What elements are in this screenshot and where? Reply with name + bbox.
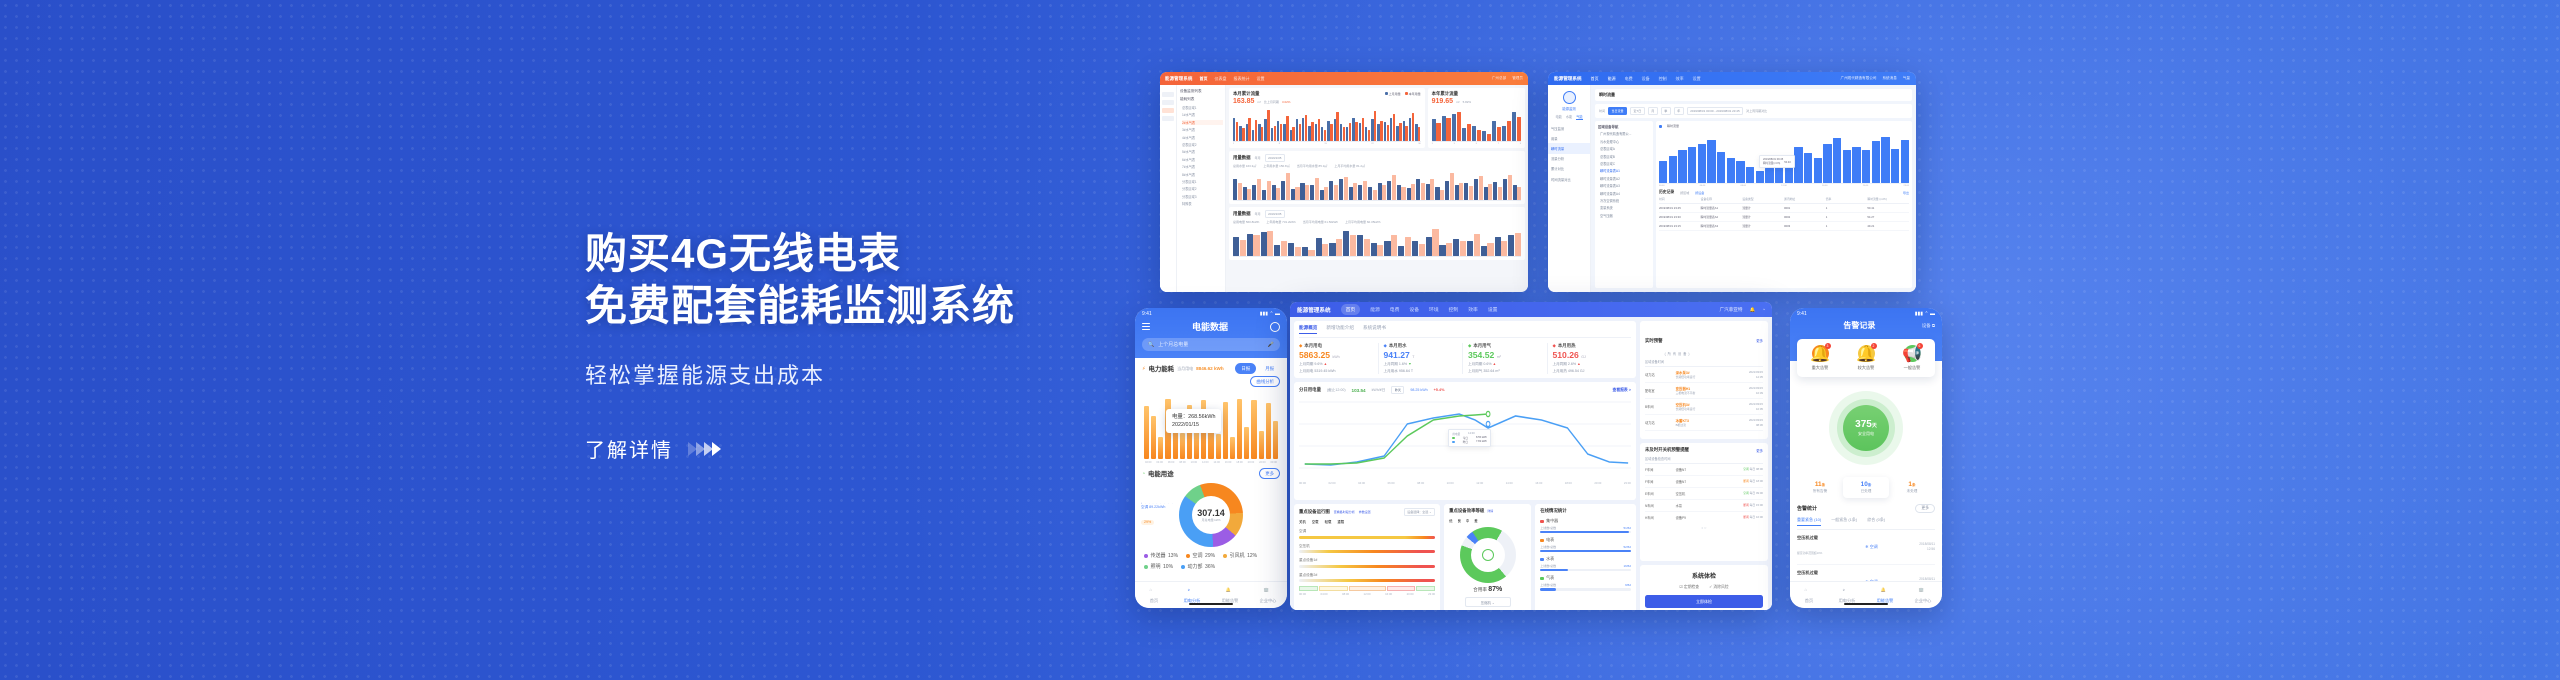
bar xyxy=(1457,112,1461,141)
bar-group xyxy=(1426,226,1439,256)
alarm-row[interactable]: 动力站 深水泵3#长期低功率运行 2021/03/1512:35 xyxy=(1645,367,1763,383)
gas-volume[interactable]: 气量 xyxy=(1903,76,1910,81)
bar xyxy=(1756,171,1764,183)
list-header: 告警统计 更多 xyxy=(1797,504,1935,513)
bar xyxy=(1343,231,1349,256)
gauge-legend: 优 良 中 差 xyxy=(1449,518,1526,523)
mic-icon[interactable]: 🎤 xyxy=(1268,342,1274,348)
bar xyxy=(1251,400,1256,459)
donut-chart: 307.14 月总电量 kWh xyxy=(1179,483,1243,547)
bar xyxy=(1230,437,1235,459)
bar xyxy=(1446,118,1450,141)
tick: 04:00 xyxy=(1156,461,1163,464)
tab-label: 企业中心 xyxy=(1260,598,1277,604)
bar xyxy=(1350,235,1356,256)
filter-7day[interactable]: 近7日 xyxy=(1630,107,1645,115)
tree-item[interactable]: 污水处理中心 xyxy=(1600,139,1650,144)
bar xyxy=(1286,116,1288,141)
status-icons: ▮▮▮ ⌃ ▬ xyxy=(1915,311,1935,317)
tab-enterprise[interactable]: 🏢企业中心 xyxy=(1904,582,1942,608)
tick: 12:00 xyxy=(1364,592,1371,596)
bar-group xyxy=(1384,107,1389,141)
bar xyxy=(1292,127,1294,141)
tab-electric[interactable]: 电能 xyxy=(1555,114,1561,120)
bar xyxy=(1497,127,1501,141)
nav-item-environment[interactable]: 环境 xyxy=(1429,306,1439,313)
bar-group xyxy=(1482,107,1491,141)
system-message[interactable]: 系统消息 xyxy=(1882,76,1896,81)
nav-item-reports[interactable]: 报表统计 xyxy=(1234,76,1250,82)
kpi-compare: 上月同期 1.6% xyxy=(1384,362,1408,366)
overview-tabs[interactable]: 能源概览 新增功能介绍 系统说明书 xyxy=(1299,325,1631,338)
badge-count: 2 xyxy=(1871,343,1877,349)
alarm-row[interactable]: B车间 空压机3#长期低功率运行 2021/03/1510:05 xyxy=(1645,399,1763,415)
item-date: 2018/08/11 xyxy=(1919,542,1935,546)
nav-item-efficiency[interactable]: 效率 xyxy=(1676,76,1684,82)
bar-group xyxy=(1233,226,1246,256)
tree-item[interactable]: 瞬时流量表A4 xyxy=(1600,191,1650,196)
user-name[interactable]: 管理员 xyxy=(1512,76,1523,81)
bar xyxy=(1339,179,1343,200)
cell-desc: 三相电流不平衡 xyxy=(1676,391,1696,395)
filter-today[interactable]: 当日流量 xyxy=(1608,107,1627,115)
cell-state: 断闲 xyxy=(1743,515,1749,519)
date-picker[interactable]: 2019/1/05 xyxy=(1265,210,1285,218)
tick: 00:00 xyxy=(1299,481,1306,485)
tree-item[interactable]: 瞬时流量表A1 xyxy=(1600,168,1650,173)
bar-group xyxy=(1452,107,1461,141)
bar xyxy=(1474,234,1480,256)
status-bar: 9:41 ▮▮▮ ⌃ ▬ xyxy=(1135,308,1287,318)
nav-item-control[interactable]: 控制 xyxy=(1659,76,1667,82)
nav-item-home[interactable]: 首页 xyxy=(1341,304,1361,314)
tree-title: 区域设备导航 xyxy=(1598,124,1650,129)
bar xyxy=(1717,152,1725,183)
kpi-prev: 上月用气 352.64 m³ xyxy=(1468,369,1500,373)
stat-handled[interactable]: 10条 已处理 xyxy=(1843,477,1889,498)
tick: 14:00 xyxy=(1213,461,1220,464)
bar-group xyxy=(1296,107,1301,141)
panel-value: 163.85 xyxy=(1233,98,1254,105)
remind-row[interactable]: E车间 空压机 空闲 每日 09:00 xyxy=(1645,488,1763,500)
cell: 49.21 xyxy=(1867,224,1909,228)
more-link[interactable]: 更多 xyxy=(1756,448,1763,453)
bar xyxy=(1503,179,1507,200)
status-time: 9:41 xyxy=(1142,311,1152,317)
filter-month[interactable]: 月 xyxy=(1648,107,1658,115)
tree-item[interactable]: 2#水气表 xyxy=(1182,120,1223,125)
nav-item-device[interactable]: 设备 xyxy=(1409,306,1419,313)
bar-group xyxy=(1407,170,1416,200)
bar xyxy=(1891,149,1899,183)
user-icon[interactable]: ◔ xyxy=(1762,307,1765,312)
main-nav[interactable]: 首页 仪表盘 报表统计 设置 xyxy=(1200,76,1265,82)
run-x-axis: 00:00 04:00 08:00 12:00 16:00 20:00 23:0… xyxy=(1299,592,1435,596)
run-row: 重点设备1# xyxy=(1299,558,1435,568)
bar xyxy=(1698,144,1706,183)
nav-item-dashboard[interactable]: 仪表盘 xyxy=(1215,76,1227,82)
cell: 1 xyxy=(1826,206,1868,210)
bar xyxy=(1324,187,1328,200)
bar xyxy=(1412,241,1418,256)
device-filter[interactable]: 设备 ⧉ xyxy=(1922,323,1935,329)
legend-name: 传送器 xyxy=(1151,552,1166,559)
sidebar-item[interactable]: 时间流量对比 xyxy=(1548,174,1590,184)
list-tabs[interactable]: 重要紧急 (10) 一般紧急 (1条) 综合 (0条) xyxy=(1797,517,1935,530)
tree-item[interactable]: 分表区域3 xyxy=(1182,194,1223,199)
bar xyxy=(1315,178,1319,200)
topbar-right[interactable]: 广州现代精造有限公司 系统消息 气量 xyxy=(1841,76,1911,81)
bar-group xyxy=(1357,226,1370,256)
date-picker[interactable]: 2019/1/05 xyxy=(1265,154,1285,162)
more-button[interactable]: 更多 xyxy=(1915,504,1935,513)
select-value: 压缩机 xyxy=(1481,601,1491,605)
bar-group xyxy=(1435,170,1444,200)
tick: 20:00 xyxy=(1594,481,1601,485)
card-title: 在线情况统计 xyxy=(1540,508,1631,514)
tree-item[interactable]: 总表区域C xyxy=(1600,161,1650,166)
bar xyxy=(1393,114,1395,141)
bar xyxy=(1452,114,1456,141)
more-link[interactable]: 更多 xyxy=(1756,338,1763,343)
left-sidebar[interactable]: 能源监测 电能 水能 气能 气压监测 用量 瞬时流量 流量分析 累计对比 时间流… xyxy=(1548,85,1591,292)
bar xyxy=(1384,122,1386,141)
card-subtitle: (所有设备) xyxy=(1665,351,1692,356)
tick: 02:00 xyxy=(1145,461,1152,464)
table-row[interactable]: 2019/08/31 23:15 瞬时流量表A3 流量计 0003 1 49.2… xyxy=(1659,222,1909,231)
sidebar-item[interactable]: 累计对比 xyxy=(1548,164,1590,174)
kpi-compare: 上月同期 0.6% xyxy=(1468,362,1492,366)
bar xyxy=(1240,240,1246,256)
alarm-list-item[interactable]: 空压机过载额定功率范围超10% ❄ 空调 2018/08/1112:56 xyxy=(1797,530,1935,565)
cell: 瞬时流量表A1 xyxy=(1701,206,1743,210)
table-row[interactable]: 2019/08/31 23:30 瞬时流量表A2 流量计 0002 1 54.2… xyxy=(1659,213,1909,222)
alarm-row[interactable]: 配电室 变压器H1三相电流不平衡 2021/03/1510:39 xyxy=(1645,383,1763,399)
bar xyxy=(1261,127,1263,141)
tab-by-area[interactable]: 按区域 xyxy=(1680,191,1689,195)
nav-item-energy[interactable]: 能源 xyxy=(1608,76,1616,82)
tree-item[interactable]: 总表区域2 xyxy=(1182,142,1223,147)
cell: 54.27 xyxy=(1867,215,1909,219)
col-device: 设备名称 xyxy=(1701,197,1743,201)
bar-group xyxy=(1377,107,1382,141)
subheadline: 轻松掌握能源支出成本 xyxy=(585,358,1105,390)
cell-area: F车间 xyxy=(1645,467,1676,472)
tree-item[interactable]: 分表区域2 xyxy=(1182,186,1223,191)
bar xyxy=(1467,241,1473,256)
bar xyxy=(1291,189,1295,200)
bar xyxy=(1180,433,1185,459)
energy-type-tabs[interactable]: 电能 水能 气能 xyxy=(1548,114,1590,120)
nav-item-settings[interactable]: 设置 xyxy=(1693,76,1701,82)
app-logo: 能源管理系统 xyxy=(1297,306,1331,314)
bar-chart-water xyxy=(1233,168,1521,201)
bar xyxy=(1495,237,1501,256)
tree-item[interactable]: 4#水气表 xyxy=(1182,135,1223,140)
legend-name: 空调 xyxy=(1193,552,1203,559)
remind-row[interactable]: F车间 设备N7 断闲 每日 18:00 xyxy=(1645,476,1763,488)
online-row: 水表 上线数/总数16/52 xyxy=(1540,556,1631,571)
bar xyxy=(1453,239,1459,256)
bar xyxy=(1247,234,1253,256)
bar-group xyxy=(1455,170,1464,200)
sidebar-item[interactable]: 瞬时流量 xyxy=(1548,143,1590,153)
device-tree[interactable]: 设备监测列表 能耗列表 总表区域1 1#水气表 2#水气表 3#水气表 4#水气… xyxy=(1177,85,1226,292)
tab-new-features[interactable]: 新增功能介绍 xyxy=(1326,325,1354,334)
nav-item-settings[interactable]: 设置 xyxy=(1488,306,1498,313)
row-name: 水表 xyxy=(1546,556,1554,562)
tab-enterprise[interactable]: 🏢企业中心 xyxy=(1249,582,1287,608)
panel-usage-power: 用量数据 年月 2019/1/05 总用电量 560.8kWh 上年用电量 73… xyxy=(1229,207,1525,260)
cell-device: 设备N7 xyxy=(1676,479,1726,484)
gear-icon[interactable] xyxy=(1270,322,1280,332)
item-name: 空压机过载 xyxy=(1797,535,1852,541)
tab-all[interactable]: 综合 (0条) xyxy=(1867,517,1885,526)
page-title: 电能数据 xyxy=(1150,320,1270,333)
remind-row[interactable]: N车间 水泵 断闲 每日 15:00 xyxy=(1645,500,1763,512)
filter-year[interactable]: 年 xyxy=(1674,107,1684,115)
panel-title: 用量数据 xyxy=(1233,155,1251,161)
bar-group xyxy=(1474,170,1483,200)
bar xyxy=(1261,232,1267,256)
bar xyxy=(1310,185,1314,200)
tab-urgent[interactable]: 重要紧急 (10) xyxy=(1797,517,1821,526)
tab-gas[interactable]: 气能 xyxy=(1576,114,1582,120)
bar xyxy=(1349,123,1351,141)
bar-group xyxy=(1340,107,1345,141)
sidebar-item[interactable]: 气压监测 xyxy=(1548,123,1590,133)
dashboard-main-right: 实时预警 (所有设备) 更多 区域 设备 时间 动力站 深水泵3#长期低功率运行 xyxy=(1640,321,1768,610)
bell-icon: 🔔2 xyxy=(1858,345,1875,362)
filter-note: 对上周同期对比 xyxy=(1746,109,1767,113)
filter-quarter[interactable]: 季 xyxy=(1661,107,1671,115)
bar xyxy=(1901,140,1909,183)
tab-label: 企业中心 xyxy=(1915,598,1932,604)
nav-item-energy[interactable]: 能源 xyxy=(1370,306,1380,313)
row-value: 16/52 xyxy=(1624,564,1632,568)
bar-group xyxy=(1472,107,1481,141)
date-range-picker[interactable]: 2019/08/31 00:00 - 2019/08/31 23:45 xyxy=(1687,107,1743,115)
nav-item-efficiency[interactable]: 效率 xyxy=(1468,306,1478,313)
tree-item[interactable]: 总表区域A xyxy=(1600,146,1650,151)
tab-manual[interactable]: 系统说明书 xyxy=(1363,325,1386,334)
tree-root[interactable]: 广州现代精造有限公... xyxy=(1600,131,1650,136)
cell-state: 断闲 xyxy=(1743,479,1749,483)
tick: 12:00 xyxy=(1202,461,1209,464)
nav-item-fee[interactable]: 电费 xyxy=(1390,306,1400,313)
export-button[interactable]: 导出 xyxy=(1903,191,1909,195)
bar-group xyxy=(1359,107,1364,141)
bar xyxy=(1446,243,1452,256)
tree-item[interactable]: 3#水气表 xyxy=(1182,127,1223,132)
company-name[interactable]: 广州现代精造有限公司 xyxy=(1841,76,1877,81)
bar xyxy=(1316,238,1322,256)
bar xyxy=(1305,115,1307,141)
tree-item[interactable]: 1#水气表 xyxy=(1182,112,1223,117)
section-value: 8846.62 kWh xyxy=(1196,366,1224,371)
kpi-prev: 上月用热 496.54 GJ xyxy=(1553,369,1585,373)
detail-link[interactable]: 详情 xyxy=(1487,509,1493,513)
gauge-device-select[interactable]: 压缩机 ⌄ xyxy=(1465,597,1511,607)
bar xyxy=(1513,185,1517,200)
dashboard-main-left: 能源概览 新增功能介绍 系统说明书 ◆本月用电 5863.25 kWh 上月同期… xyxy=(1294,321,1636,610)
bar xyxy=(1881,137,1889,183)
filter-bar[interactable]: 时间 当日流量 近7日 月 季 年 2019/08/31 00:00 - 201… xyxy=(1595,104,1912,118)
panel-title: 本月累计流量 xyxy=(1233,91,1259,97)
remind-row[interactable]: F车间 设备N7 空闲 每日 08:00 xyxy=(1645,464,1763,476)
topbar-right[interactable]: 广汽菲亚特 🔔 ◔ xyxy=(1720,307,1766,313)
tab-home[interactable]: ⌂首页 xyxy=(1790,582,1828,608)
alarm-card-medium[interactable]: 🔔2 较大告警 xyxy=(1843,345,1889,371)
bar-group xyxy=(1352,107,1357,141)
bar-group xyxy=(1252,107,1257,141)
tab-water[interactable]: 水能 xyxy=(1566,114,1572,120)
cell-state: 空闲 xyxy=(1743,491,1749,495)
alarm-card-major[interactable]: 🔔3 重大告警 xyxy=(1797,345,1843,371)
panel-delta: 5.82% xyxy=(1463,100,1472,104)
dashboard-orange-topbar: 能源管理系统 首页 仪表盘 报表统计 设置 广州总部 管理员 xyxy=(1160,72,1528,85)
rate-label: 合用率 xyxy=(1473,587,1487,592)
device-navigation-tree[interactable]: 区域设备导航 广州现代精造有限公... 污水处理中心 总表区域A 总表区域B 总… xyxy=(1595,121,1653,288)
learn-more-cta[interactable]: 了解详情 xyxy=(585,434,1105,463)
nav-item-fee[interactable]: 电费 xyxy=(1625,76,1633,82)
bar-group xyxy=(1239,107,1244,141)
bar xyxy=(1823,144,1831,183)
bar xyxy=(1244,427,1249,459)
tree-item[interactable]: 总表区域B xyxy=(1600,154,1650,159)
nav-item-control[interactable]: 控制 xyxy=(1449,306,1459,313)
analysis-link[interactable]: 查看各时段分析 xyxy=(1334,510,1355,514)
bar xyxy=(1255,120,1257,141)
nav-item-home[interactable]: 首页 xyxy=(1591,76,1599,82)
status-icons: ▮▮▮ ⌃ ▬ xyxy=(1260,311,1280,317)
tree-item[interactable]: 分表区域1 xyxy=(1182,179,1223,184)
tree-item[interactable]: 冷冻空调系统 xyxy=(1600,198,1650,203)
chevron-right-icon xyxy=(691,442,721,456)
bar xyxy=(1253,235,1259,256)
nav-item-home[interactable]: 首页 xyxy=(1200,76,1208,82)
col-type: 设备类型 xyxy=(1742,197,1784,201)
alarm-card-minor[interactable]: 📢6 一般告警 xyxy=(1889,345,1935,371)
cell-device: 水泵 xyxy=(1676,503,1726,508)
bar xyxy=(1487,243,1493,256)
tree-item[interactable]: 7#水气表 xyxy=(1182,164,1223,169)
carousel-dots[interactable]: • ○ xyxy=(1645,525,1763,530)
curve-analysis-button[interactable]: 曲线分析 xyxy=(1250,376,1280,387)
bar xyxy=(1286,173,1290,200)
tree-item[interactable]: 8#水气表 xyxy=(1182,172,1223,177)
sidebar-item[interactable]: 流量分析 xyxy=(1548,154,1590,164)
tab-monthly[interactable]: 月报 xyxy=(1259,363,1280,374)
stat-pending[interactable]: 1条 未处理 xyxy=(1889,477,1935,498)
start-checkup-button[interactable]: 立即体检 xyxy=(1645,595,1763,608)
sidebar-item[interactable]: 用量 xyxy=(1548,133,1590,143)
tree-item[interactable]: 空气压缩 xyxy=(1600,213,1650,218)
bar xyxy=(1322,244,1328,256)
company-selector[interactable]: 广汽菲亚特 xyxy=(1720,307,1743,313)
chart-x-axis: 00:0004:0008:0012:0016:0020:0023:00 xyxy=(1659,184,1909,187)
bar xyxy=(1727,158,1735,183)
menu-icon[interactable] xyxy=(1142,322,1150,331)
bar xyxy=(1274,245,1280,256)
donut-chart-wrapper: • · · · · · · · · 空调 89.22kWh 29% 307.14… xyxy=(1135,483,1287,547)
legend-item: 关机 xyxy=(1299,520,1306,524)
settings-link[interactable]: 参数设置 xyxy=(1359,510,1371,514)
kpi-title: 本月用气 xyxy=(1473,343,1491,349)
phone-header: 9:41 ▮▮▮ ⌃ ▬ 电能数据 🔍 上个月总电量 🎤 xyxy=(1135,308,1287,358)
cell-area: F车间 xyxy=(1645,479,1676,484)
bar xyxy=(1481,246,1487,256)
page-title: 告警记录 xyxy=(1797,320,1922,331)
search-input[interactable]: 🔍 上个月总电量 🎤 xyxy=(1142,338,1280,351)
stat-all[interactable]: 11条 所有告警 xyxy=(1797,477,1843,498)
bar xyxy=(1295,187,1299,200)
cell-time: 每日 15:00 xyxy=(1750,503,1763,507)
bar xyxy=(1273,421,1278,459)
tree-item[interactable]: 6#水气表 xyxy=(1182,157,1223,162)
topbar-right[interactable]: 广州总部 管理员 xyxy=(1492,76,1523,81)
bar xyxy=(1399,123,1401,141)
tree-item[interactable]: 瞬时流量表A2 xyxy=(1600,176,1650,181)
chart-unit: kWh/¥日 xyxy=(1372,388,1386,393)
cell-time: 每日 16:00 xyxy=(1750,515,1763,519)
cell-time: 每日 08:00 xyxy=(1750,467,1763,471)
tree-item[interactable]: 5#水气表 xyxy=(1182,149,1223,154)
bar xyxy=(1330,124,1332,141)
online-rows: 集中器 上线数/总数51/52 电表 上线数/总数52/52 xyxy=(1540,518,1631,590)
home-icon: ⌂ xyxy=(1150,587,1159,596)
tree-item[interactable]: 变量系统 xyxy=(1600,205,1650,210)
promo-banner: 购买4G无线电表 免费配套能耗监测系统 轻松掌握能源支出成本 了解详情 能源管理… xyxy=(0,0,2560,680)
tab-home[interactable]: ⌂首页 xyxy=(1135,582,1173,608)
icon-rail[interactable] xyxy=(1160,85,1177,292)
remind-row[interactable]: H车间 设备P9 断闲 每日 16:00 xyxy=(1645,512,1763,523)
bar xyxy=(1305,185,1309,200)
nav-item-device[interactable]: 设备 xyxy=(1642,76,1650,82)
tab-normal[interactable]: 一般紧急 (1条) xyxy=(1831,517,1857,526)
tooltip-value: 7.83 kWh xyxy=(1476,440,1487,443)
headline-line-1: 购买4G无线电表 xyxy=(585,228,1105,280)
bar xyxy=(1515,233,1521,256)
stat: 上月平均用水量 81.2㎥ xyxy=(1334,164,1365,168)
bar xyxy=(1508,175,1512,200)
tick: 08:00 xyxy=(1179,461,1186,464)
bar-group xyxy=(1409,107,1414,141)
card-title: 重点设备效率等级 xyxy=(1449,508,1484,514)
bar xyxy=(1336,112,1338,141)
tick: 23:00 xyxy=(1624,481,1631,485)
tab-overview[interactable]: 能源概览 xyxy=(1299,325,1317,334)
tab-by-device[interactable]: 按设备 xyxy=(1695,191,1704,195)
tree-item[interactable]: 总表区域1 xyxy=(1182,105,1223,110)
bell-icon[interactable]: 🔔 xyxy=(1749,307,1755,313)
day-select[interactable]: 昨天 xyxy=(1391,386,1404,394)
alarm-row[interactable]: 动力站 冰蓄KT3B相过流 2021/03/1508:36 xyxy=(1645,415,1763,431)
tab-daily[interactable]: 日报 xyxy=(1235,363,1256,374)
tree-item[interactable]: 瞬时流量表A3 xyxy=(1600,183,1650,188)
bar-group xyxy=(1290,107,1295,141)
nav-item-settings[interactable]: 设置 xyxy=(1257,76,1265,82)
tree-item[interactable]: 特殊表 xyxy=(1182,201,1223,206)
bar xyxy=(1281,181,1285,200)
bar xyxy=(1216,434,1221,459)
more-button[interactable]: 更多 xyxy=(1259,468,1280,479)
bar xyxy=(1707,140,1715,183)
view-report-link[interactable]: 查看报表 > xyxy=(1613,388,1631,393)
table-row[interactable]: 2019/08/31 23:45 瞬时流量表A1 流量计 0001 1 50.4… xyxy=(1659,204,1909,213)
bar xyxy=(1426,237,1432,256)
bar-group xyxy=(1462,107,1471,141)
